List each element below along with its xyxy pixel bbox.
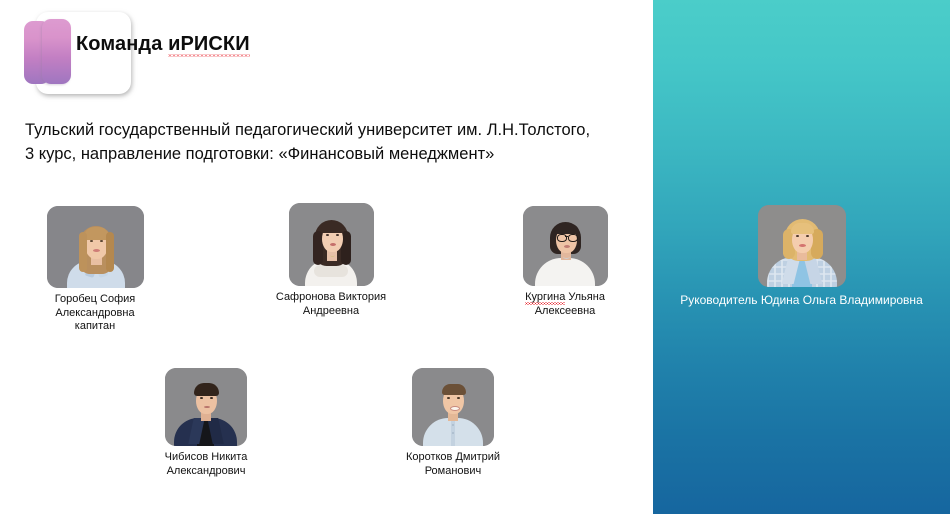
page-title-prefix: Команда xyxy=(76,33,168,55)
member-photo xyxy=(523,206,608,286)
member-name: Кургина Ульяна Алексеевна xyxy=(483,291,647,318)
team-member-card: Кургина Ульяна Алексеевна xyxy=(483,206,647,318)
team-member-card: Коротков Дмитрий Романович xyxy=(371,368,535,478)
page-title: Команда иРИСКИ xyxy=(76,33,250,56)
slide-canvas: Команда иРИСКИ Тульский государственный … xyxy=(0,0,950,514)
member-name: Коротков Дмитрий Романович xyxy=(371,451,535,478)
page-title-misspelled-word: иРИСКИ xyxy=(168,33,250,58)
member-photo xyxy=(289,203,374,286)
supervisor-card: Руководитель Юдина Ольга Владимировна xyxy=(653,205,950,308)
member-name: Сафронова Виктория Андреевна xyxy=(249,291,413,318)
institution-subtitle: Тульский государственный педагогический … xyxy=(25,118,665,166)
member-name: Чибисов Никита Александрович xyxy=(124,451,288,478)
member-photo xyxy=(47,206,144,288)
team-member-card: Горобец София Александровна капитан xyxy=(13,206,177,334)
supervisor-photo xyxy=(758,205,846,287)
member-photo xyxy=(412,368,494,446)
supervisor-name: Руководитель Юдина Ольга Владимировна xyxy=(653,293,950,308)
team-member-card: Чибисов Никита Александрович xyxy=(124,368,288,478)
member-name-misspelled-word: Кургина xyxy=(525,291,565,305)
member-photo xyxy=(165,368,247,446)
member-name: Горобец София Александровна капитан xyxy=(13,293,177,334)
logo-bar-front-icon xyxy=(42,19,71,84)
team-member-card: Сафронова Виктория Андреевна xyxy=(249,203,413,318)
